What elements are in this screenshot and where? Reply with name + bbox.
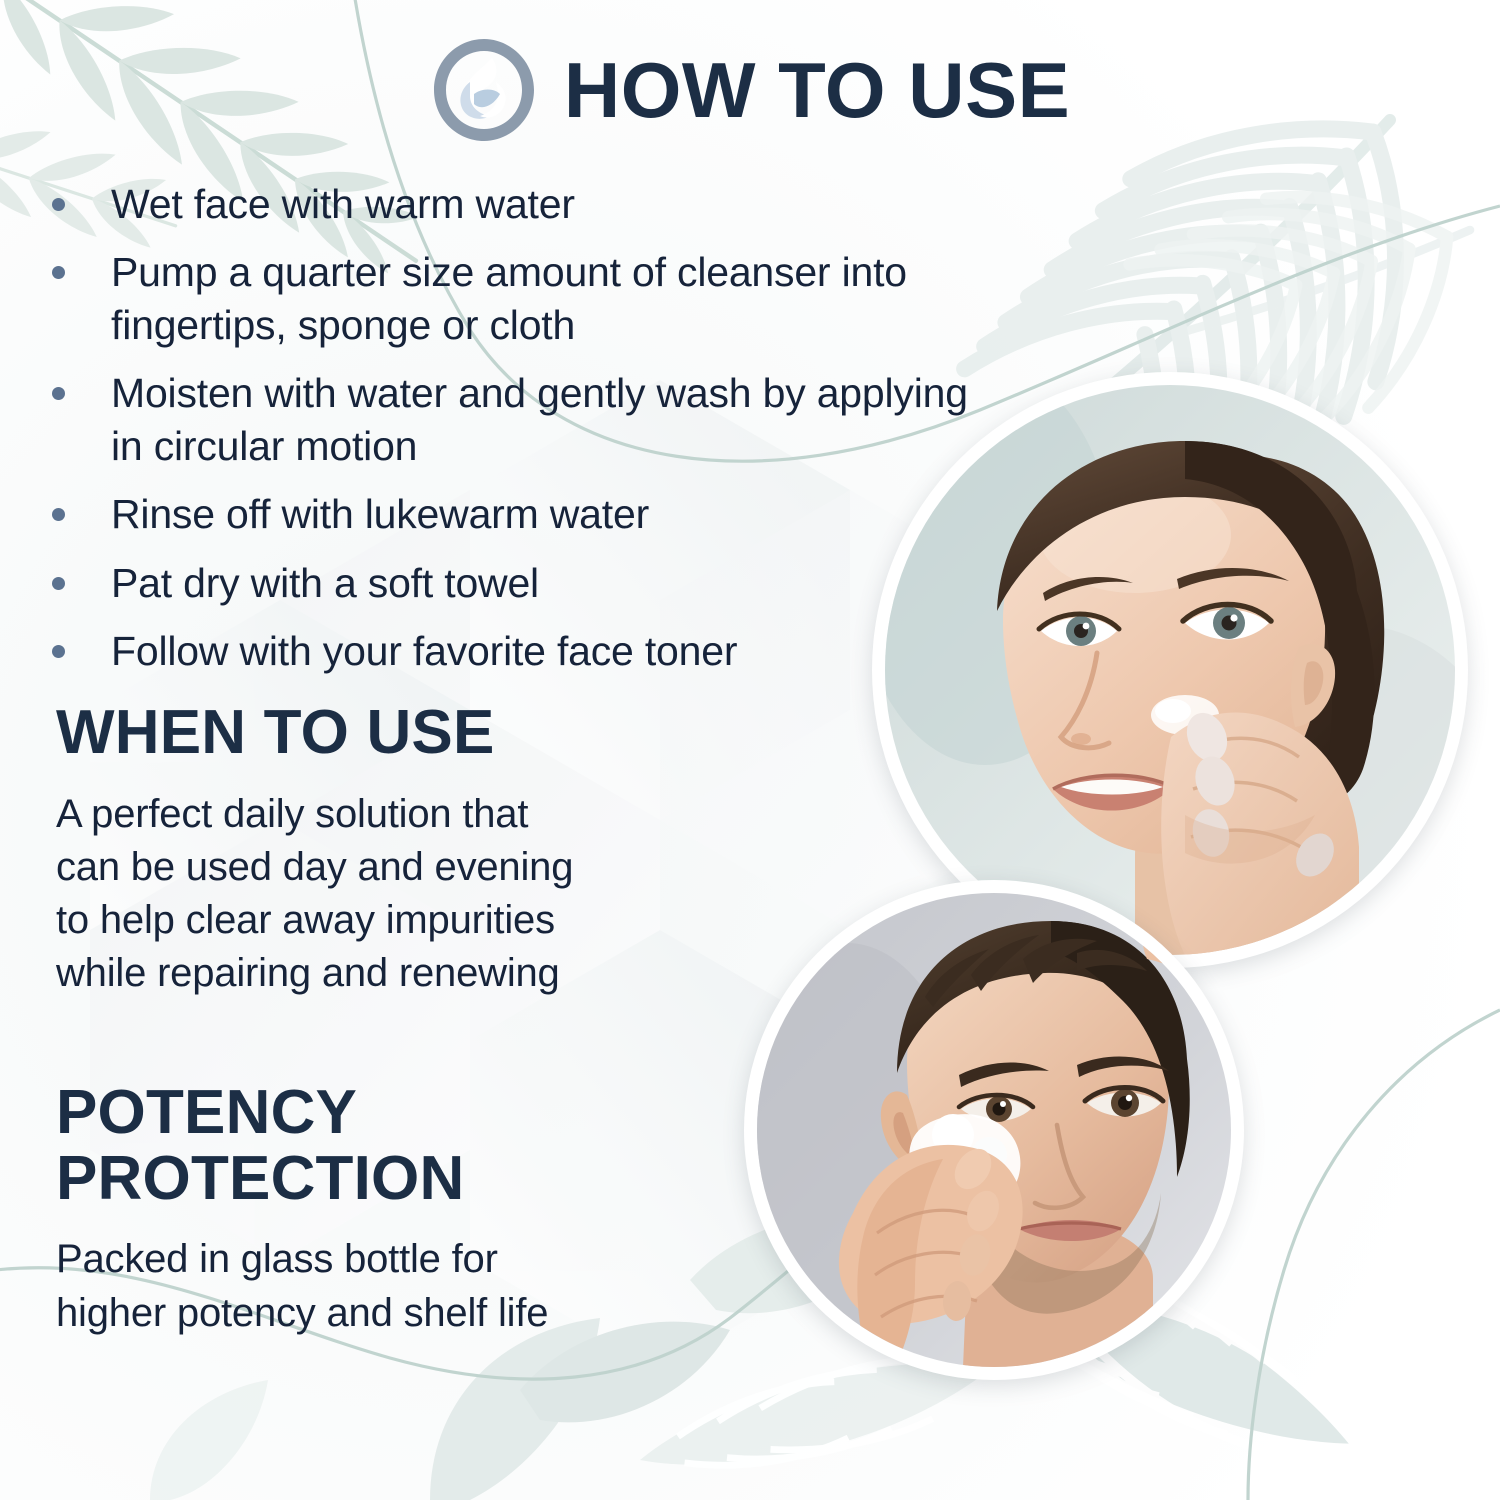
man-applying-cleanser-photo (744, 880, 1244, 1380)
list-item: Pat dry with a soft towel (52, 557, 982, 609)
how-to-use-steps-list: Wet face with warm water Pump a quarter … (52, 178, 982, 694)
dot-bullet-icon (52, 266, 65, 279)
dot-bullet-icon (52, 508, 65, 521)
section-body: Packed in glass bottle for higher potenc… (56, 1233, 736, 1339)
page-header: HOW TO USE (0, 36, 1500, 144)
list-item: Follow with your favorite face toner (52, 625, 982, 677)
list-item: Rinse off with lukewarm water (52, 488, 982, 540)
list-item: Moisten with water and gently wash by ap… (52, 367, 982, 472)
dot-bullet-icon (52, 577, 65, 590)
list-item: Pump a quarter size amount of cleanser i… (52, 246, 982, 351)
photo-clip (757, 893, 1231, 1367)
dot-bullet-icon (52, 387, 65, 400)
infographic-canvas: HOW TO USE Wet face with warm water Pump… (0, 0, 1500, 1500)
step-text: Pat dry with a soft towel (111, 557, 539, 609)
step-text: Rinse off with lukewarm water (111, 488, 649, 540)
dot-bullet-icon (52, 198, 65, 211)
section-body: A perfect daily solution that can be use… (56, 788, 736, 1001)
step-text: Follow with your favorite face toner (111, 625, 737, 677)
step-text: Pump a quarter size amount of cleanser i… (111, 246, 982, 351)
step-text: Wet face with warm water (111, 178, 575, 230)
page-title: HOW TO USE (564, 51, 1070, 129)
water-drop-leaf-logo-icon (430, 36, 538, 144)
step-text: Moisten with water and gently wash by ap… (111, 367, 982, 472)
dot-bullet-icon (52, 645, 65, 658)
section-heading: POTENCY PROTECTION (56, 1080, 736, 1211)
when-to-use-section: WHEN TO USE A perfect daily solution tha… (56, 700, 736, 1000)
section-heading: WHEN TO USE (56, 700, 736, 766)
photo-clip (885, 385, 1455, 955)
woman-applying-cleanser-photo (872, 372, 1468, 968)
list-item: Wet face with warm water (52, 178, 982, 230)
potency-protection-section: POTENCY PROTECTION Packed in glass bottl… (56, 1080, 736, 1340)
